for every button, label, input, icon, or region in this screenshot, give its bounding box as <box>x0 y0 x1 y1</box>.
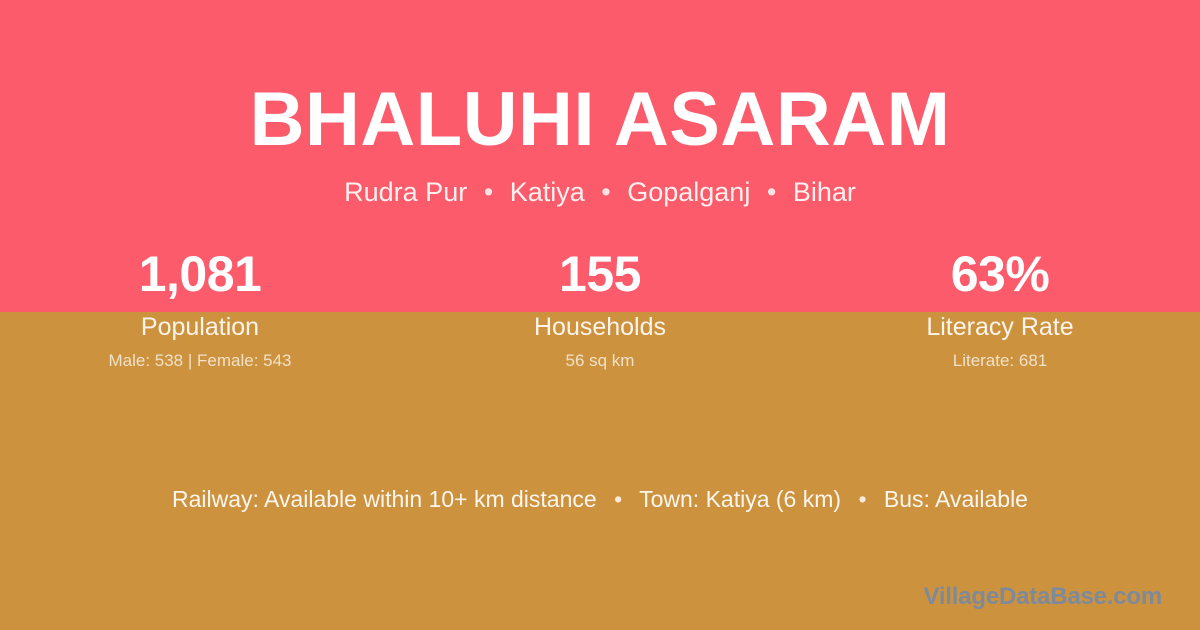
infrastructure-item-bus: Bus: Available <box>884 486 1028 512</box>
page-title: BHALUHI ASARAM <box>0 82 1200 158</box>
breadcrumb-item-panchayat: Rudra Pur <box>344 177 467 207</box>
stat-value: 63% <box>800 243 1200 305</box>
infrastructure-item-town: Town: Katiya (6 km) <box>639 486 841 512</box>
infrastructure-item-railway: Railway: Available within 10+ km distanc… <box>172 486 597 512</box>
breadcrumb-item-district: Gopalganj <box>627 177 750 207</box>
stat-sublabel: Literate: 681 <box>800 350 1200 371</box>
stat-sublabel: 56 sq km <box>400 350 800 371</box>
stat-sublabel: Male: 538 | Female: 543 <box>0 350 400 371</box>
breadcrumb-separator-icon: • <box>592 178 619 208</box>
breadcrumb-separator-icon: • <box>475 178 502 208</box>
stat-label: Literacy Rate <box>800 312 1200 342</box>
stat-value: 155 <box>400 243 800 305</box>
card-header: BHALUHI ASARAM Rudra Pur • Katiya • Gopa… <box>0 0 1200 208</box>
breadcrumb: Rudra Pur • Katiya • Gopalganj • Bihar <box>0 178 1200 208</box>
stat-value: 1,081 <box>0 243 400 305</box>
infrastructure-separator-icon: • <box>847 484 877 514</box>
site-brand-watermark: VillageDataBase.com <box>923 582 1162 612</box>
stat-label: Households <box>400 312 800 342</box>
stats-row: 1,081 Population Male: 538 | Female: 543… <box>0 243 1200 371</box>
stat-label: Population <box>0 312 400 342</box>
infrastructure-summary: Railway: Available within 10+ km distanc… <box>0 484 1200 514</box>
breadcrumb-separator-icon: • <box>758 178 785 208</box>
village-info-card: BHALUHI ASARAM Rudra Pur • Katiya • Gopa… <box>0 0 1200 630</box>
stat-literacy-rate: 63% Literacy Rate Literate: 681 <box>800 243 1200 371</box>
card-content: BHALUHI ASARAM Rudra Pur • Katiya • Gopa… <box>0 0 1200 630</box>
stat-households: 155 Households 56 sq km <box>400 243 800 371</box>
breadcrumb-item-state: Bihar <box>793 177 856 207</box>
breadcrumb-item-block: Katiya <box>510 177 585 207</box>
stat-population: 1,081 Population Male: 538 | Female: 543 <box>0 243 400 371</box>
infrastructure-separator-icon: • <box>603 484 633 514</box>
